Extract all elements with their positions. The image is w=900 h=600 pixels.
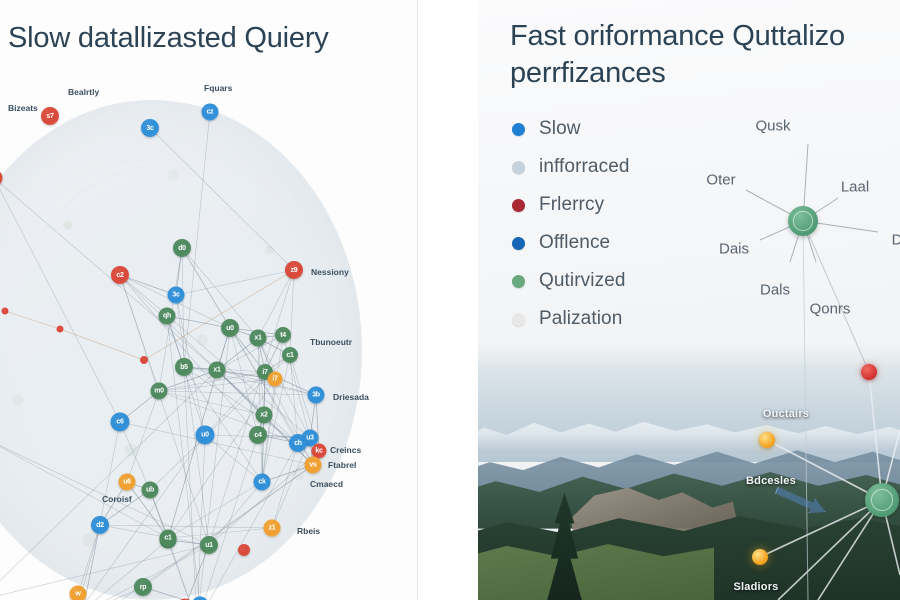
- photo-overlay-label: Bdcesles: [746, 475, 796, 487]
- graph-label: Driesada: [333, 392, 369, 402]
- graph-node[interactable]: qh: [159, 308, 176, 325]
- right-panel: Fast oriformance Quttalizo perrfizances …: [478, 0, 900, 600]
- star-spoke-label: Laal: [841, 179, 869, 196]
- graph-node[interactable]: x1: [250, 330, 267, 347]
- graph-node[interactable]: [238, 544, 250, 556]
- graph-edges: [0, 70, 418, 600]
- graph-label: Bizeats: [8, 103, 38, 113]
- graph-node[interactable]: x1: [209, 362, 226, 379]
- graph-label: Tbunoeutr: [310, 337, 352, 347]
- photo-amber-node[interactable]: [752, 549, 768, 565]
- graph-label: Coroisf: [102, 494, 132, 504]
- panel-divider: [417, 0, 418, 600]
- graph-node[interactable]: t4: [275, 327, 291, 343]
- graph-label: Cmaecd: [310, 479, 343, 489]
- star-spoke-label: Qonrs: [810, 301, 851, 318]
- graph-node[interactable]: u0: [196, 426, 215, 445]
- graph-label: Nessiony: [311, 267, 349, 277]
- graph-node[interactable]: u1: [200, 536, 218, 554]
- graph-node[interactable]: d0: [173, 239, 191, 257]
- graph-node[interactable]: vs: [305, 457, 322, 474]
- graph-label: Fquars: [204, 83, 232, 93]
- star-hub-node[interactable]: [788, 206, 818, 236]
- star-spoke-label: Oter: [706, 172, 735, 189]
- photo-red-node[interactable]: [861, 364, 877, 380]
- graph-node[interactable]: rp: [134, 578, 152, 596]
- graph-node[interactable]: ch: [289, 434, 307, 452]
- graph-node[interactable]: x2: [256, 407, 273, 424]
- graph-node[interactable]: [140, 356, 148, 364]
- graph-node[interactable]: s7: [41, 107, 59, 125]
- graph-node[interactable]: z9: [285, 261, 303, 279]
- graph-node[interactable]: z1: [264, 520, 281, 537]
- star-spoke-label: Dals: [760, 282, 790, 299]
- graph-node[interactable]: w: [70, 586, 87, 600]
- graph-label: Creincs: [330, 445, 361, 455]
- graph-label: Rbeis: [297, 526, 320, 536]
- left-panel-title: Slow datallizasted Quiery: [8, 20, 329, 57]
- graph-node[interactable]: [57, 326, 64, 333]
- graph-node[interactable]: ub: [142, 482, 159, 499]
- graph-node[interactable]: b5: [175, 358, 193, 376]
- graph-node[interactable]: c2: [111, 266, 129, 284]
- photo-overlay-label: Ouctairs: [763, 408, 809, 420]
- graph-node[interactable]: ck: [254, 474, 271, 491]
- graph-node[interactable]: u0: [221, 319, 239, 337]
- graph-node[interactable]: 3b: [308, 387, 325, 404]
- left-network-graph[interactable]: s7e13cczd0c23cz9x1t4c1u0x1b5m0qhi7i7u2u0…: [0, 70, 418, 600]
- graph-node[interactable]: c4: [249, 426, 267, 444]
- graph-node[interactable]: d2: [91, 516, 109, 534]
- photo-hub-node[interactable]: [865, 483, 899, 517]
- star-spoke-label: D: [892, 232, 900, 249]
- graph-node[interactable]: i7: [268, 372, 283, 387]
- photo-overlay-label: Sladiors: [733, 581, 778, 593]
- graph-label: Bealrtly: [68, 87, 99, 97]
- graph-node[interactable]: 3c: [141, 119, 159, 137]
- graph-node[interactable]: [2, 308, 9, 315]
- graph-node[interactable]: 3c: [168, 287, 185, 304]
- graph-node[interactable]: c1: [282, 347, 298, 363]
- star-spoke-label: Dais: [719, 241, 749, 258]
- left-panel: Slow datallizasted Quiery s7e13cczd0c23c…: [0, 0, 418, 600]
- graph-node[interactable]: cz: [202, 104, 219, 121]
- star-spoke-label: Qusk: [755, 118, 790, 135]
- photo-amber-node[interactable]: [759, 432, 775, 448]
- comparison-layout: Slow datallizasted Quiery s7e13cczd0c23c…: [0, 0, 900, 600]
- graph-label: Ftabrel: [328, 460, 356, 470]
- graph-node[interactable]: m0: [151, 383, 168, 400]
- graph-node[interactable]: u6: [119, 474, 136, 491]
- graph-node[interactable]: c6: [111, 413, 130, 432]
- graph-node[interactable]: c1: [160, 530, 177, 547]
